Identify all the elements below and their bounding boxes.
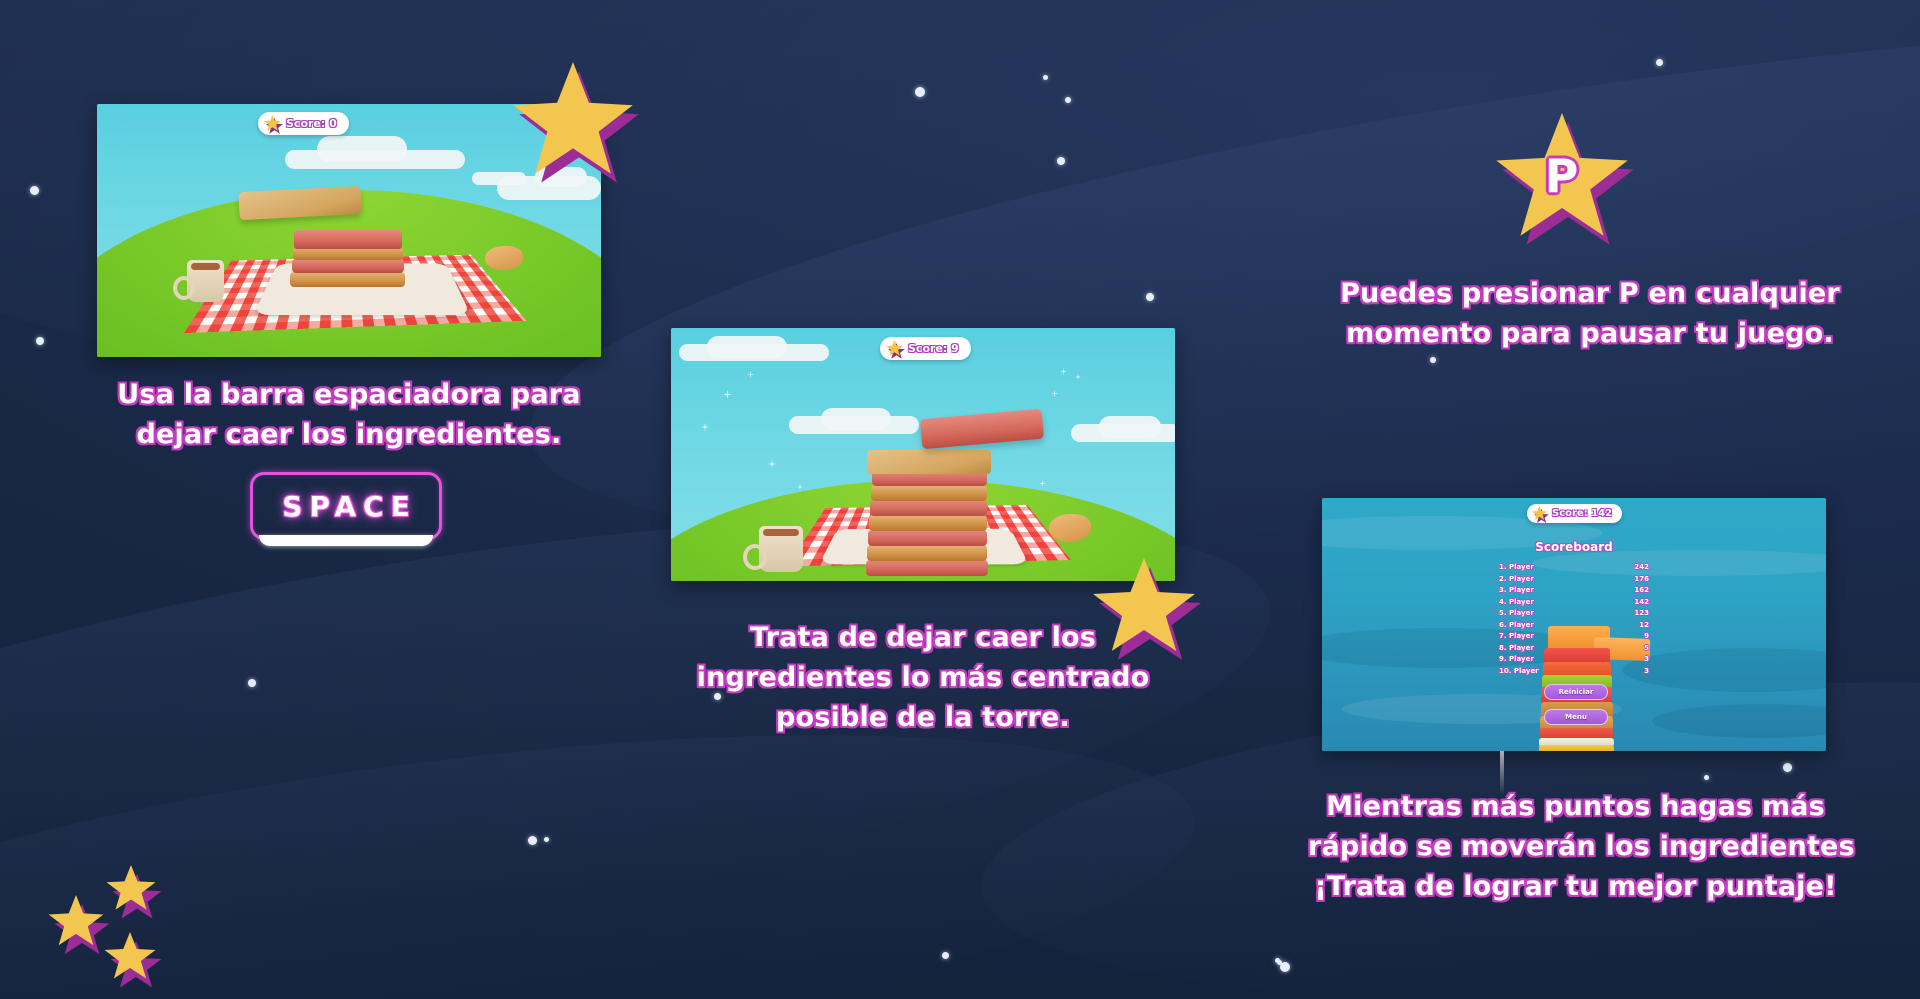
scoreboard-rank: 10. Player xyxy=(1499,666,1539,678)
space-key-button[interactable]: SPACE xyxy=(250,472,442,540)
sandwich-layer xyxy=(867,450,991,474)
caption-line: Puedes presionar P en cualquier xyxy=(1330,274,1850,314)
star-dot xyxy=(1783,763,1792,772)
scoreboard-row: 6. Player 12 xyxy=(1499,620,1649,632)
star-dot xyxy=(528,836,537,845)
scoreboard-rank: 6. Player xyxy=(1499,620,1534,632)
star-icon xyxy=(1532,506,1547,521)
caption-line: Mientras más puntos hagas más xyxy=(1308,787,1843,827)
caption-line: ingredientes lo más centrado xyxy=(671,658,1175,698)
star-dot xyxy=(915,87,925,97)
menu-button-label: Menu xyxy=(1565,713,1587,721)
sandwich-layer xyxy=(866,560,988,576)
restart-button[interactable]: Reiniciar xyxy=(1544,684,1608,700)
star-icon xyxy=(264,115,281,132)
star-dot xyxy=(248,679,256,687)
cloud-icon xyxy=(317,136,407,162)
star-dot xyxy=(1043,75,1048,80)
scoreboard-row: 10. Player 3 xyxy=(1499,666,1649,678)
score-value: Score: 142 xyxy=(1552,508,1612,519)
decorative-star xyxy=(512,62,634,182)
score-value: Score: 9 xyxy=(908,342,959,355)
scoreboard-row: 5. Player 123 xyxy=(1499,608,1649,620)
caption-line: ¡Trata de lograr tu mejor puntaje! xyxy=(1308,867,1843,907)
scoreboard-row: 1. Player 242 xyxy=(1499,562,1649,574)
score-value: Score: 0 xyxy=(286,117,337,130)
caption-line: Usa la barra espaciadora para xyxy=(97,375,601,415)
star-dot xyxy=(1430,357,1436,363)
scoreboard-row: 9. Player 3 xyxy=(1499,654,1649,666)
scoreboard-rank: 1. Player xyxy=(1499,562,1534,574)
decorative-star xyxy=(1092,558,1196,658)
scoreboard-score: 142 xyxy=(1634,597,1649,609)
cup-handle xyxy=(743,544,767,570)
scoreboard-rank: 3. Player xyxy=(1499,585,1534,597)
scoreboard-score: 5 xyxy=(1644,643,1649,655)
scoreboard-score: 3 xyxy=(1644,666,1649,678)
caption-pause: Puedes presionar P en cualquier momento … xyxy=(1330,274,1850,354)
coffee-cup xyxy=(759,526,803,572)
screenshot-gameplay-tower[interactable] xyxy=(671,328,1175,581)
scoreboard-rank: 2. Player xyxy=(1499,574,1534,586)
decorative-star xyxy=(104,932,156,982)
cloud-icon xyxy=(707,336,787,358)
star-dot xyxy=(544,837,549,842)
star-dot xyxy=(30,186,39,195)
scoreboard-rank: 4. Player xyxy=(1499,597,1534,609)
score-badge: Score: 142 xyxy=(1527,504,1622,523)
scoreboard-list: 1. Player 242 2. Player 176 3. Player 16… xyxy=(1499,562,1649,677)
scoreboard-row: 3. Player 162 xyxy=(1499,585,1649,597)
screenshot-pause-scoreboard[interactable]: Score: 142 Scoreboard 1. Player 242 2. P… xyxy=(1322,498,1826,751)
scoreboard-title: Scoreboard xyxy=(1322,540,1826,554)
score-badge: Score: 9 xyxy=(880,337,971,360)
scoreboard-rank: 7. Player xyxy=(1499,631,1534,643)
restart-button-label: Reiniciar xyxy=(1559,688,1594,696)
cup-handle xyxy=(173,276,195,300)
sandwich-layer xyxy=(871,485,987,501)
star-dot xyxy=(1656,59,1663,66)
scoreboard-score: 3 xyxy=(1644,654,1649,666)
star-dot xyxy=(1146,293,1154,301)
caption-line: dejar caer los ingredientes. xyxy=(97,415,601,455)
caption-line: momento para pausar tu juego. xyxy=(1330,314,1850,354)
decorative-star xyxy=(106,865,156,913)
scoreboard-row: 4. Player 142 xyxy=(1499,597,1649,609)
p-key-label: P xyxy=(1495,113,1629,245)
cloud-icon xyxy=(1099,416,1161,438)
sandwich-layer xyxy=(290,272,405,287)
scoreboard-score: 176 xyxy=(1634,574,1649,586)
star-dot xyxy=(1275,958,1280,963)
caption-score: Mientras más puntos hagas más rápido se … xyxy=(1308,787,1843,907)
sandwich-layer xyxy=(869,515,987,531)
decorative-star xyxy=(48,895,104,949)
score-badge: Score: 0 xyxy=(258,112,349,135)
sandwich-layer xyxy=(292,259,404,273)
scoreboard-rank: 9. Player xyxy=(1499,654,1534,666)
sandwich-layer xyxy=(294,230,402,249)
caption-space: Usa la barra espaciadora para dejar caer… xyxy=(97,375,601,455)
star-icon xyxy=(886,340,903,357)
scoreboard-row: 8. Player 5 xyxy=(1499,643,1649,655)
scoreboard-score: 12 xyxy=(1639,620,1649,632)
space-key-label: SPACE xyxy=(275,490,416,523)
star-dot xyxy=(1057,157,1065,165)
tower-block xyxy=(1539,745,1614,751)
star-dot xyxy=(1280,962,1290,972)
scoreboard-rank: 5. Player xyxy=(1499,608,1534,620)
scoreboard-score: 242 xyxy=(1634,562,1649,574)
scoreboard-row: 7. Player 9 xyxy=(1499,631,1649,643)
star-dot xyxy=(942,952,949,959)
scoreboard-row: 2. Player 176 xyxy=(1499,574,1649,586)
scoreboard-score: 123 xyxy=(1634,608,1649,620)
croissant xyxy=(485,246,523,270)
star-dot xyxy=(1065,97,1071,103)
sandwich-layer xyxy=(870,500,987,516)
croissant xyxy=(1049,514,1091,542)
menu-button[interactable]: Menu xyxy=(1544,709,1608,725)
sandwich-layer xyxy=(868,530,987,546)
scoreboard-rank: 8. Player xyxy=(1499,643,1534,655)
sandwich-layer xyxy=(867,545,987,561)
scoreboard-score: 162 xyxy=(1634,585,1649,597)
star-dot xyxy=(1704,775,1709,780)
star-dot xyxy=(36,337,44,345)
p-key-star[interactable]: P xyxy=(1495,113,1629,245)
caption-line: posible de la torre. xyxy=(671,698,1175,738)
key-base xyxy=(259,535,433,546)
cloud-icon xyxy=(821,408,891,430)
scoreboard-score: 9 xyxy=(1644,631,1649,643)
caption-line: rápido se moverán los ingredientes xyxy=(1308,827,1843,867)
